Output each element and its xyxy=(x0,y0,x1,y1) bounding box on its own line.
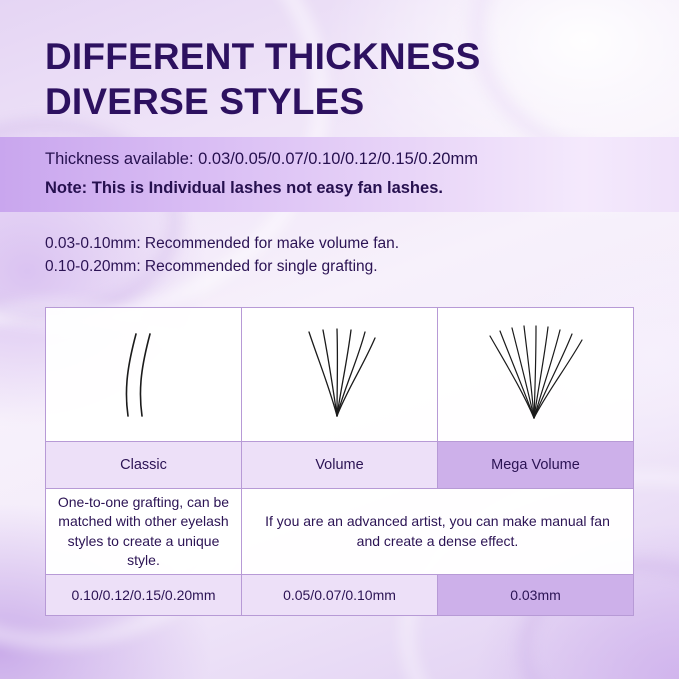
cell-mega-volume-image xyxy=(438,308,634,442)
description-volume: If you are an advanced artist, you can m… xyxy=(242,489,634,575)
table-row-labels: Classic Volume Mega Volume xyxy=(46,442,634,489)
page-title: DIFFERENT THICKNESS DIVERSE STYLES xyxy=(45,34,645,124)
info-band: Thickness available: 0.03/0.05/0.07/0.10… xyxy=(0,137,679,212)
poster-page: DIFFERENT THICKNESS DIVERSE STYLES Thick… xyxy=(0,0,679,679)
label-volume: Volume xyxy=(242,442,438,489)
recommendation-line-2: 0.10-0.20mm: Recommended for single graf… xyxy=(45,258,378,276)
classic-lash-illustration-icon xyxy=(46,320,241,430)
thickness-available-text: Thickness available: 0.03/0.05/0.07/0.10… xyxy=(45,150,478,169)
recommendation-line-1: 0.03-0.10mm: Recommended for make volume… xyxy=(45,235,399,253)
sizes-mega-volume: 0.03mm xyxy=(438,575,634,616)
cell-volume-image xyxy=(242,308,438,442)
label-classic: Classic xyxy=(46,442,242,489)
note-text: Note: This is Individual lashes not easy… xyxy=(45,179,443,198)
lash-style-table: Classic Volume Mega Volume One-to-one gr… xyxy=(45,307,634,616)
table-row-sizes: 0.10/0.12/0.15/0.20mm 0.05/0.07/0.10mm 0… xyxy=(46,575,634,616)
page-title-line-1: DIFFERENT THICKNESS xyxy=(45,36,480,77)
label-mega-volume: Mega Volume xyxy=(438,442,634,489)
cell-classic-image xyxy=(46,308,242,442)
table-row-descriptions: One-to-one grafting, can be matched with… xyxy=(46,489,634,575)
table-row-images xyxy=(46,308,634,442)
page-title-line-2: DIVERSE STYLES xyxy=(45,79,645,124)
description-classic: One-to-one grafting, can be matched with… xyxy=(46,489,242,575)
volume-lash-fan-illustration-icon xyxy=(242,320,437,430)
sizes-classic: 0.10/0.12/0.15/0.20mm xyxy=(46,575,242,616)
sizes-volume: 0.05/0.07/0.10mm xyxy=(242,575,438,616)
mega-volume-lash-fan-illustration-icon xyxy=(438,320,633,430)
